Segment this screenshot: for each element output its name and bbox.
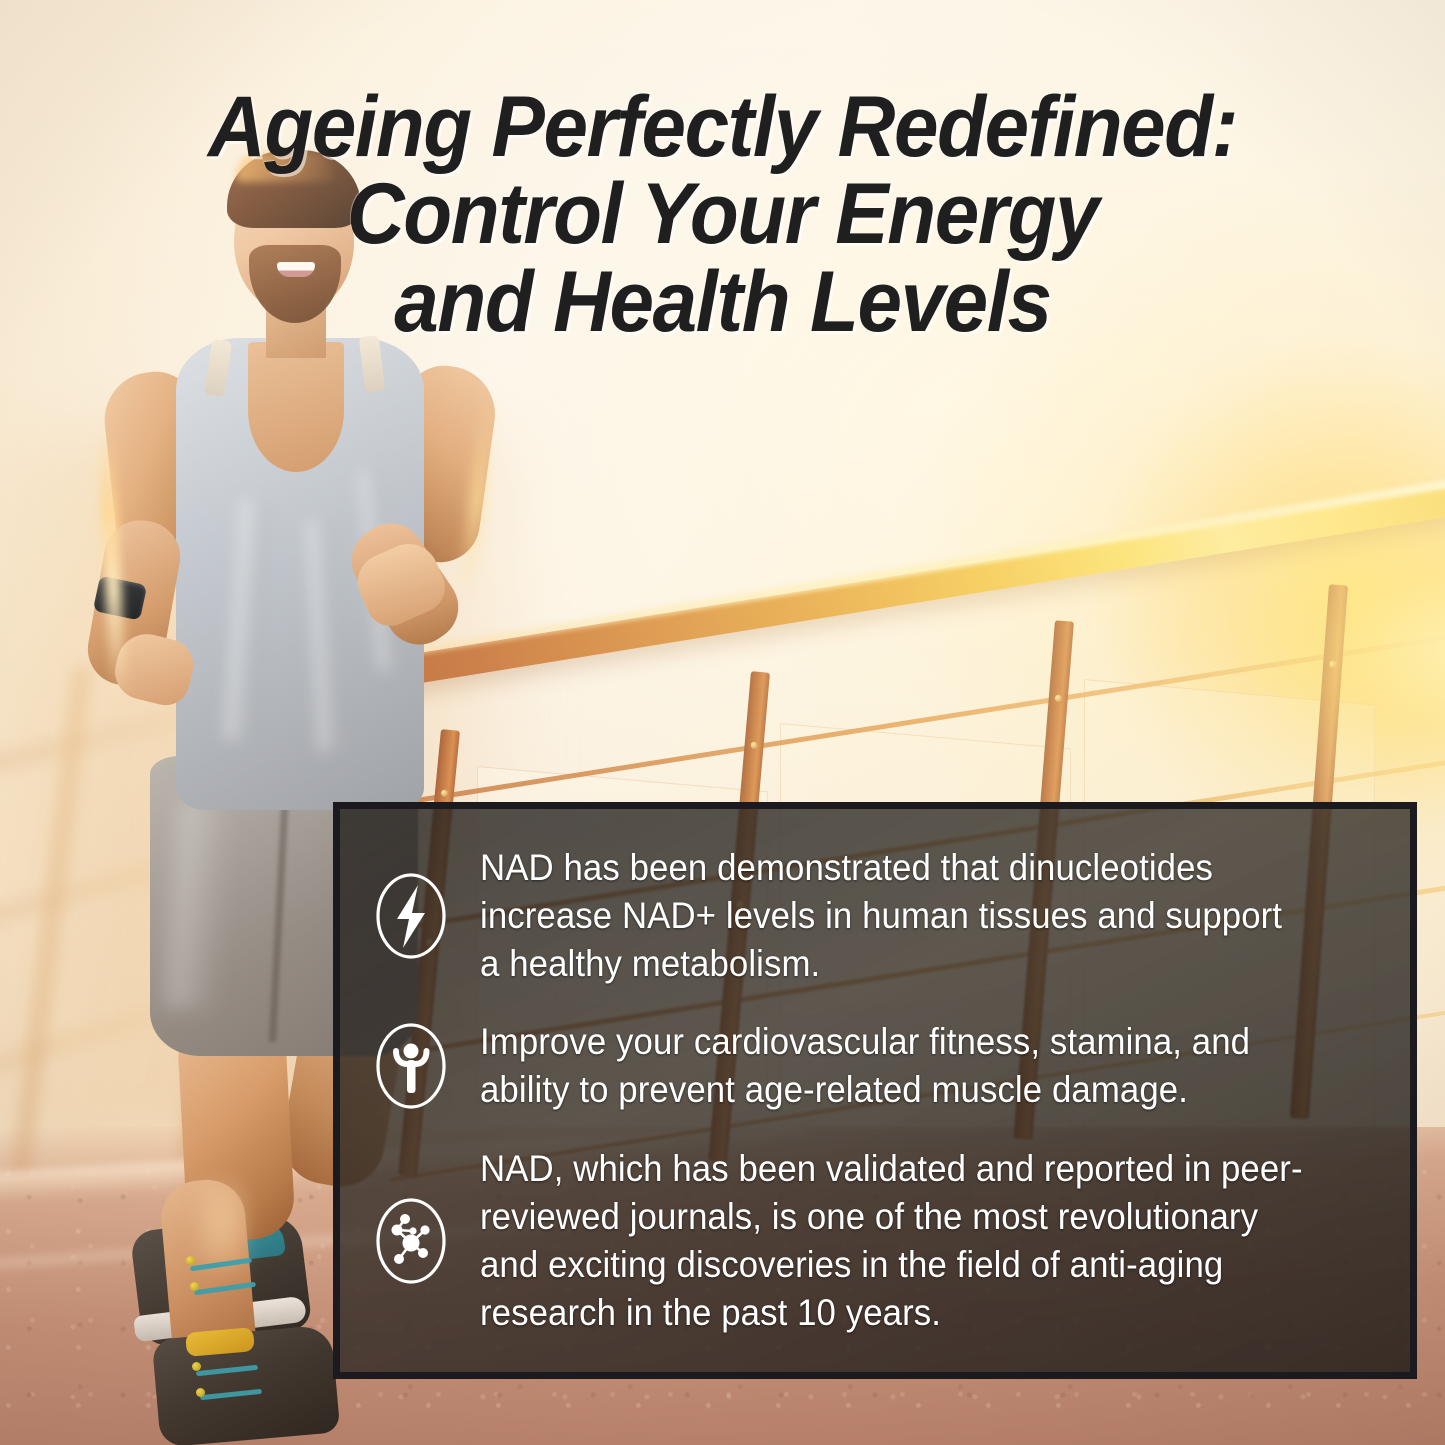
lightning-bolt-icon xyxy=(370,870,452,962)
shoe-eyelet-4 xyxy=(190,1282,199,1291)
molecule-icon xyxy=(370,1195,452,1287)
shoe-eyelet-3 xyxy=(186,1256,195,1265)
person-arms-raised-icon xyxy=(370,1020,452,1112)
smiling-mouth xyxy=(277,262,315,277)
knee-highlight xyxy=(196,1180,248,1270)
benefit-item: Improve your cardiovascular fitness, sta… xyxy=(370,1018,1358,1114)
shoe-eyelet-1 xyxy=(192,1362,201,1371)
hair-highlight xyxy=(236,152,334,182)
tank-top-v-neck xyxy=(248,342,344,472)
product-marketing-poster: Ageing Perfectly Redefined: Control Your… xyxy=(0,0,1445,1445)
benefit-item: NAD has been demonstrated that dinucleot… xyxy=(370,844,1358,988)
benefit-text: NAD, which has been validated and report… xyxy=(480,1145,1305,1337)
benefit-text: NAD has been demonstrated that dinucleot… xyxy=(480,844,1305,988)
benefit-item: NAD, which has been validated and report… xyxy=(370,1145,1358,1337)
benefits-panel: NAD has been demonstrated that dinucleot… xyxy=(333,802,1417,1379)
shoe-eyelet-2 xyxy=(196,1388,205,1397)
beard xyxy=(249,245,341,323)
benefit-text: Improve your cardiovascular fitness, sta… xyxy=(480,1018,1305,1114)
